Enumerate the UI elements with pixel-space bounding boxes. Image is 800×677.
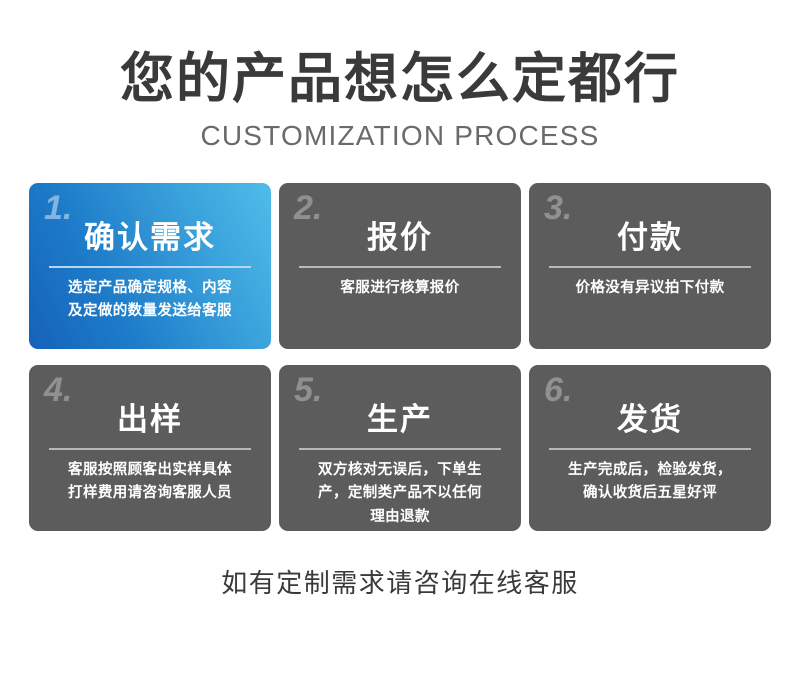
process-step-card-2: 2. 报价 客服进行核算报价 bbox=[279, 183, 521, 349]
step-divider bbox=[299, 266, 501, 268]
step-divider bbox=[49, 266, 251, 268]
step-number: 2. bbox=[294, 191, 322, 225]
step-divider bbox=[49, 448, 251, 450]
process-step-card-6: 6. 发货 生产完成后，检验发货，确认收货后五星好评 bbox=[529, 365, 771, 531]
page-header: 您的产品想怎么定都行 CUSTOMIZATION PROCESS bbox=[0, 0, 800, 152]
step-title: 发货 bbox=[549, 365, 751, 439]
page-title: 您的产品想怎么定都行 bbox=[0, 48, 800, 110]
step-title: 报价 bbox=[299, 183, 501, 257]
footer-cta-text: 如有定制需求请咨询在线客服 bbox=[0, 563, 800, 600]
process-step-card-4: 4. 出样 客服按照顾客出实样具体打样费用请咨询客服人员 bbox=[29, 365, 271, 531]
step-title: 生产 bbox=[299, 365, 501, 439]
step-number: 5. bbox=[294, 373, 322, 407]
step-divider bbox=[549, 266, 751, 268]
page-footer: 如有定制需求请咨询在线客服 bbox=[0, 563, 800, 600]
page-subtitle: CUSTOMIZATION PROCESS bbox=[0, 120, 800, 152]
step-title: 付款 bbox=[549, 183, 751, 257]
step-description: 客服进行核算报价 bbox=[299, 277, 501, 300]
step-title: 确认需求 bbox=[49, 183, 251, 257]
step-divider bbox=[299, 448, 501, 450]
step-description: 生产完成后，检验发货，确认收货后五星好评 bbox=[549, 459, 751, 506]
process-step-card-3: 3. 付款 价格没有异议拍下付款 bbox=[529, 183, 771, 349]
step-description: 价格没有异议拍下付款 bbox=[549, 277, 751, 300]
step-number: 4. bbox=[44, 373, 72, 407]
step-description: 客服按照顾客出实样具体打样费用请咨询客服人员 bbox=[49, 459, 251, 506]
process-step-card-1: 1. 确认需求 选定产品确定规格、内容及定做的数量发送给客服 bbox=[29, 183, 271, 349]
step-divider bbox=[549, 448, 751, 450]
step-number: 6. bbox=[544, 373, 572, 407]
customization-process-page: 您的产品想怎么定都行 CUSTOMIZATION PROCESS 1. 确认需求… bbox=[0, 0, 800, 677]
step-number: 1. bbox=[44, 191, 72, 225]
step-title: 出样 bbox=[49, 365, 251, 439]
step-number: 3. bbox=[544, 191, 572, 225]
step-description: 双方核对无误后，下单生产，定制类产品不以任何理由退款 bbox=[299, 459, 501, 529]
process-step-card-5: 5. 生产 双方核对无误后，下单生产，定制类产品不以任何理由退款 bbox=[279, 365, 521, 531]
process-steps-grid: 1. 确认需求 选定产品确定规格、内容及定做的数量发送给客服 2. 报价 客服进… bbox=[29, 183, 771, 531]
step-description: 选定产品确定规格、内容及定做的数量发送给客服 bbox=[49, 277, 251, 324]
